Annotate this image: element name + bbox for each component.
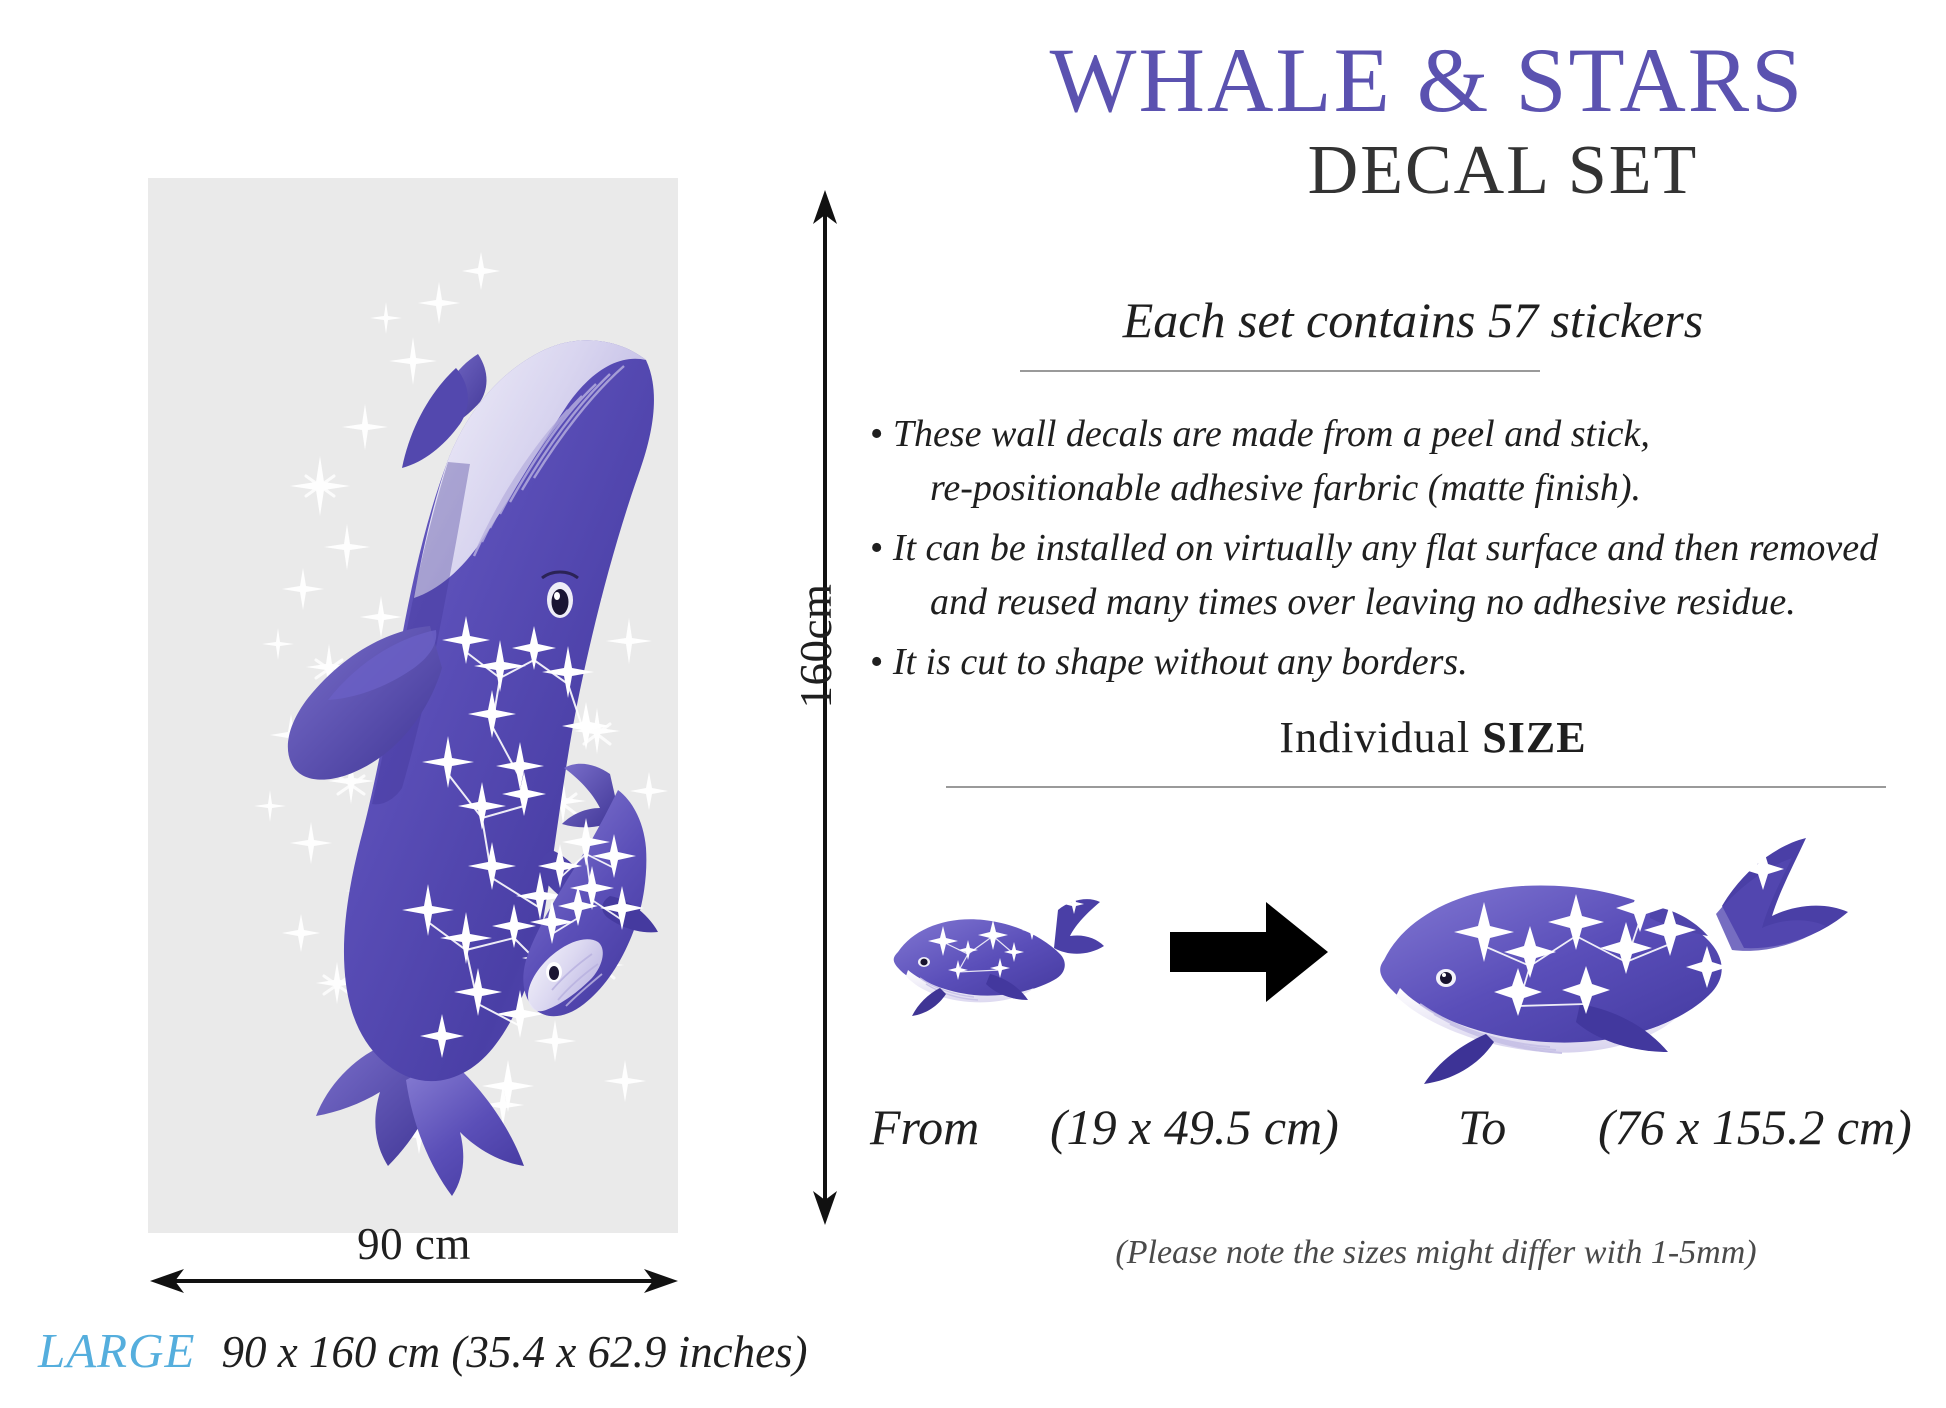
- size-tier-label: LARGE: [38, 1323, 195, 1378]
- bullet-marker: •: [870, 641, 883, 683]
- list-item-line1: It is cut to shape without any borders.: [893, 641, 1468, 683]
- width-dimension-arrow: [150, 1268, 678, 1294]
- details-column: WHALE & STARS DECAL SET Each set contain…: [880, 0, 1946, 1408]
- divider-top: [1020, 370, 1540, 372]
- size-comparison-graphic: [880, 820, 1946, 1060]
- bullet-marker: •: [870, 527, 883, 569]
- bullet-marker: •: [870, 413, 883, 455]
- page-subtitle: DECAL SET: [880, 136, 1946, 206]
- from-label: From: [870, 1098, 979, 1156]
- divider-size: [946, 786, 1886, 788]
- list-item: • It is cut to shape without any borders…: [870, 636, 1930, 690]
- to-label: To: [1458, 1098, 1506, 1156]
- sticker-count-heading: Each set contains 57 stickers: [880, 290, 1946, 350]
- individual-size-heading: Individual SIZE: [880, 712, 1946, 763]
- individual-size-emphasis: SIZE: [1482, 713, 1586, 762]
- list-item: • These wall decals are made from a peel…: [870, 408, 1930, 516]
- feature-list: • These wall decals are made from a peel…: [870, 408, 1930, 696]
- artwork-preview-panel: [148, 178, 678, 1233]
- list-item-line2: re-positionable adhesive farbric (matte …: [890, 462, 1930, 516]
- page-title: WHALE & STARS: [880, 34, 1946, 126]
- large-whale-illustration: [1350, 828, 1860, 1088]
- small-whale-illustration: [862, 882, 1122, 1022]
- list-item-line1: It can be installed on virtually any fla…: [893, 527, 1878, 569]
- list-item-line2: and reused many times over leaving no ad…: [890, 576, 1930, 630]
- size-dimensions-label: 90 x 160 cm (35.4 x 62.9 inches): [221, 1327, 807, 1377]
- to-value: (76 x 155.2 cm): [1598, 1098, 1912, 1156]
- individual-size-prefix: Individual: [1279, 713, 1482, 762]
- height-dimension-label: 160cm: [790, 556, 842, 736]
- size-tolerance-note: (Please note the sizes might differ with…: [880, 1234, 1946, 1272]
- list-item-line1: These wall decals are made from a peel a…: [893, 413, 1650, 455]
- right-arrow-icon: [1170, 898, 1330, 1006]
- list-item: • It can be installed on virtually any f…: [870, 522, 1930, 630]
- width-dimension-label: 90 cm: [150, 1218, 678, 1270]
- preview-column: 160cm 90 cm LARGE90 x 160 cm (35.4 x 62.…: [0, 0, 880, 1408]
- decal-product-sheet: 160cm 90 cm LARGE90 x 160 cm (35.4 x 62.…: [0, 0, 1946, 1408]
- size-range-row: From (19 x 49.5 cm) To (76 x 155.2 cm): [880, 1098, 1946, 1168]
- size-summary: LARGE90 x 160 cm (35.4 x 62.9 inches): [38, 1322, 808, 1379]
- whale-artwork: [148, 178, 678, 1233]
- from-value: (19 x 49.5 cm): [1050, 1098, 1339, 1156]
